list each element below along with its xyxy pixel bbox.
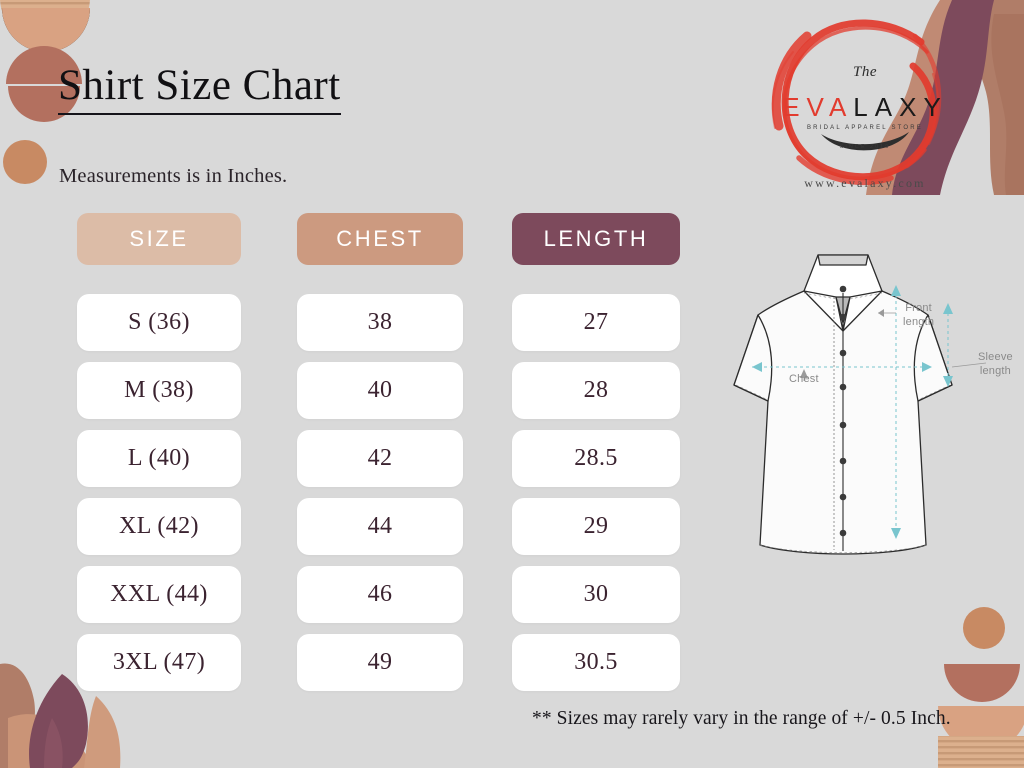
logo-tagline: BRIDAL APPAREL STORE — [745, 124, 985, 133]
cell-chest-5: 49 — [297, 634, 463, 691]
decorative-shapes-bottom-right — [910, 602, 1024, 768]
label-front-length-line1: Front — [905, 302, 932, 314]
logo-website-url: www.evalaxy.com — [745, 176, 985, 191]
cell-length-3: 29 — [512, 498, 680, 555]
label-front-length: Front length — [903, 302, 934, 330]
cell-size-4: XXL (44) — [77, 566, 241, 623]
cell-size-2: L (40) — [77, 430, 241, 487]
cell-length-5: 30.5 — [512, 634, 680, 691]
size-chart-canvas: Shirt Size Chart Measurements is in Inch… — [0, 0, 1024, 768]
footnote-disclaimer: ** Sizes may rarely vary in the range of… — [532, 708, 951, 730]
header-length: LENGTH — [512, 213, 680, 265]
cell-chest-2: 42 — [297, 430, 463, 487]
column-size: SIZE S (36) M (38) L (40) XL (42) XXL (4… — [77, 213, 241, 691]
label-sleeve-length-line1: Sleeve — [978, 351, 1013, 363]
cell-chest-1: 40 — [297, 362, 463, 419]
shirt-measurement-diagram: Front length Sleeve length Chest — [700, 245, 1024, 590]
cell-chest-3: 44 — [297, 498, 463, 555]
cell-chest-4: 46 — [297, 566, 463, 623]
logo-since: SINCE 2019 — [745, 144, 985, 150]
page-title: Shirt Size Chart — [58, 62, 341, 115]
cell-size-5: 3XL (47) — [77, 634, 241, 691]
cell-chest-0: 38 — [297, 294, 463, 351]
cell-length-4: 30 — [512, 566, 680, 623]
cell-size-0: S (36) — [77, 294, 241, 351]
cell-length-2: 28.5 — [512, 430, 680, 487]
column-length: LENGTH 27 28 28.5 29 30 30.5 — [512, 213, 680, 691]
logo-wordmark: EVALAXY — [745, 92, 985, 123]
header-chest: CHEST — [297, 213, 463, 265]
measurement-unit-note: Measurements is in Inches. — [59, 165, 287, 188]
label-sleeve-length: Sleeve length — [978, 351, 1013, 379]
label-chest: Chest — [789, 373, 819, 387]
cell-length-0: 27 — [512, 294, 680, 351]
cell-size-3: XL (42) — [77, 498, 241, 555]
logo-wordmark-prefix: EVA — [782, 92, 853, 122]
cell-size-1: M (38) — [77, 362, 241, 419]
header-size: SIZE — [77, 213, 241, 265]
label-sleeve-length-line2: length — [980, 365, 1011, 377]
label-front-length-line2: length — [903, 316, 934, 328]
logo-wordmark-suffix: LAXY — [853, 92, 948, 122]
logo-script-the: The — [745, 64, 985, 81]
brand-logo: The EVALAXY BRIDAL APPAREL STORE SINCE 2… — [745, 8, 985, 198]
column-chest: CHEST 38 40 42 44 46 49 — [297, 213, 463, 691]
cell-length-1: 28 — [512, 362, 680, 419]
shirt-outline-icon — [700, 245, 1024, 590]
